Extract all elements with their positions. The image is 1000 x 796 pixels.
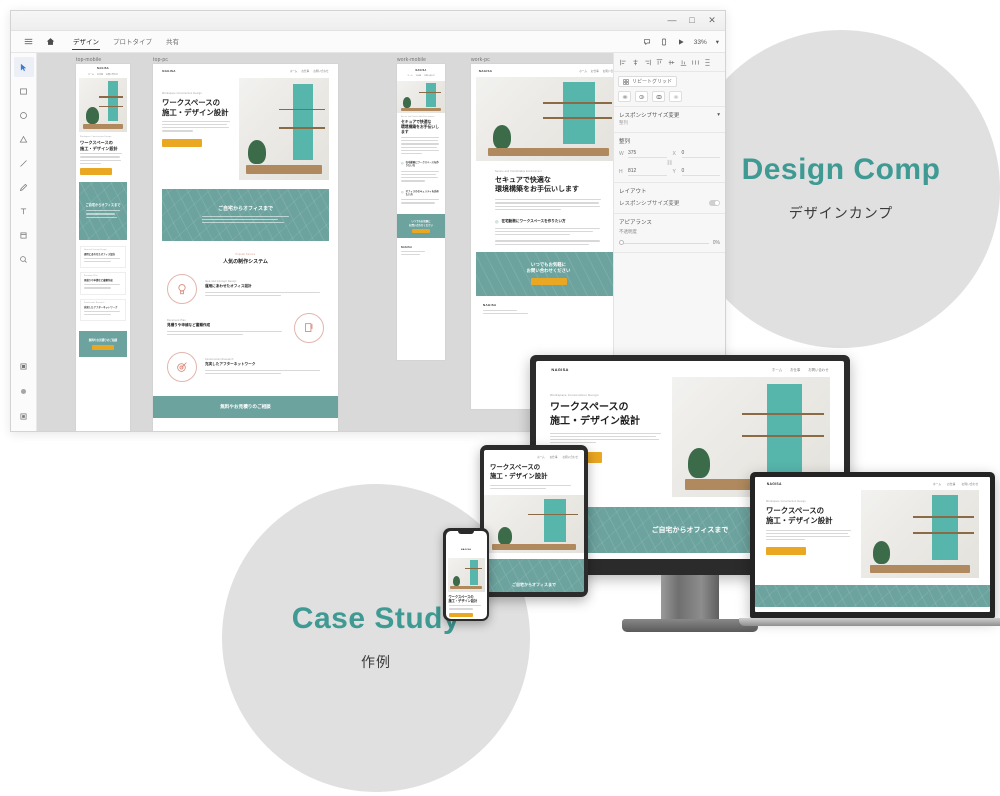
feature-title: 運用にあわせたオフィス設計 bbox=[84, 252, 122, 256]
list-item-text: 在宅勤務にワークスペースを作りたい方 bbox=[502, 219, 566, 224]
nav-link-0[interactable]: ホーム bbox=[88, 73, 94, 76]
responsive-resize-label: レスポンシブサイズ変更 bbox=[619, 199, 679, 207]
opacity-slider-row[interactable]: 0% bbox=[619, 240, 720, 246]
feature-card[interactable]: Idea and Concept Design 運用にあわせたオフィス設計 bbox=[80, 246, 126, 268]
hero-copy: Workspace Construction Design ワークスペースの 施… bbox=[76, 132, 130, 175]
feature-title: 見積りや申請など書類作成 bbox=[167, 323, 286, 328]
check-icon: ◎ bbox=[495, 219, 499, 224]
laptop-lid: NAGISA ホーム お仕事 お問い合わせ Workspace Construc… bbox=[750, 472, 995, 618]
nav-link-2[interactable]: お問い合わせ bbox=[603, 69, 613, 73]
hero-copy: Workspace Construction Design ワークスペースの 施… bbox=[766, 490, 855, 578]
features-header: Popular Service 人気の制作システム bbox=[153, 253, 338, 265]
layout-title: レイアウト bbox=[619, 187, 720, 195]
artboard-tool[interactable] bbox=[14, 225, 34, 245]
logo: NAGISA bbox=[397, 69, 445, 72]
eyebrow: Workspace Construction Design bbox=[550, 393, 664, 397]
feature-copy: Construction Research 充実したアフターネットワーク bbox=[205, 358, 324, 376]
width-field[interactable]: W 375 bbox=[619, 150, 667, 158]
opacity-label: 不透明度 bbox=[619, 229, 720, 235]
align-toolbar bbox=[614, 53, 725, 72]
artboard-top-pc[interactable]: NAGISA ホーム お仕事 お問い合わせ Workspace Construc… bbox=[153, 64, 338, 431]
feature-card[interactable]: Document Plan 見積りや申請など書類作成 bbox=[80, 272, 126, 294]
nav-link-0[interactable]: ホーム bbox=[407, 74, 412, 77]
cta-button[interactable] bbox=[412, 229, 430, 233]
laptop-mockup: NAGISA ホーム お仕事 お問い合わせ Workspace Construc… bbox=[750, 472, 995, 626]
monitor-neck bbox=[661, 575, 719, 619]
hero-copy: Secure and Comfortable Environment セキュアで… bbox=[397, 113, 445, 210]
device-mockups: NAGISA ホーム お仕事 お問い合わせ Workspace Construc… bbox=[430, 350, 1000, 650]
lightbulb-icon bbox=[167, 274, 197, 304]
plugins-panel-button[interactable] bbox=[14, 406, 34, 426]
nav-link-0[interactable]: ホーム bbox=[537, 455, 545, 459]
band-title: ご自宅からオフィスまで bbox=[86, 202, 121, 207]
responsive-section: レスポンシブサイズ変更 ▾ 整列 bbox=[614, 107, 725, 133]
tablet-screen: ホーム お仕事 お問い合わせ ワークスペースの 施工・デザイン設計 bbox=[484, 450, 584, 592]
exclude-icon[interactable] bbox=[669, 91, 682, 102]
ellipse-tool[interactable] bbox=[14, 105, 34, 125]
artboard-label-work-mobile[interactable]: work-mobile bbox=[397, 57, 426, 63]
heading-line-2: 施工・デザイン設計 bbox=[449, 599, 484, 603]
nav-links: ホーム お仕事 お問い合わせ bbox=[484, 450, 584, 459]
nav-link-1[interactable]: お仕事 bbox=[790, 367, 800, 372]
feature-title: 運用にあわせたオフィス設計 bbox=[205, 284, 324, 289]
features-title: 人気の制作システム bbox=[153, 258, 338, 265]
feature-row: Document Plan 見積りや申請など書類作成 bbox=[153, 304, 338, 343]
distribute-vertical-icon[interactable] bbox=[702, 57, 712, 67]
body-text bbox=[80, 153, 126, 164]
body-text bbox=[401, 137, 441, 154]
artboard-top-mobile[interactable]: NAGISA ホーム お仕事 お問い合わせ Workspace Construc… bbox=[76, 64, 130, 431]
nav-links: ホーム お仕事 お問い合わせ bbox=[772, 367, 829, 372]
hero-image bbox=[239, 78, 329, 180]
layers-panel-button[interactable] bbox=[14, 356, 34, 376]
feature-eyebrow: Construction Research bbox=[84, 303, 122, 304]
feature-title: 充実したアフターネットワーク bbox=[84, 305, 122, 309]
nav-link-1[interactable]: お仕事 bbox=[301, 69, 309, 73]
feature-eyebrow: Document Plan bbox=[167, 319, 286, 322]
y-field[interactable]: Y 0 bbox=[673, 168, 721, 176]
list-item: ◎ 在宅勤務にワークスペースを作りたい方 bbox=[401, 161, 441, 168]
feature-card[interactable]: Construction Research 充実したアフターネットワーク bbox=[80, 299, 126, 321]
heading-line-2: 施工・デザイン設計 bbox=[80, 146, 126, 152]
phone-bezel: NAGISA ワークスペースの 施工・デザイン設計 ご自宅からオフィスまで bbox=[443, 528, 489, 621]
height-field[interactable]: H 812 bbox=[619, 168, 667, 176]
design-comp-callout: Design Comp デザインカンプ bbox=[682, 30, 1000, 348]
site-footer: NAGISA bbox=[471, 296, 613, 323]
width-label: W bbox=[619, 151, 625, 157]
opacity-slider-track[interactable] bbox=[619, 243, 709, 244]
rectangle-tool[interactable] bbox=[14, 81, 34, 101]
size-title: 整列 bbox=[619, 137, 630, 145]
y-label: Y bbox=[673, 169, 679, 175]
hamburger-icon[interactable] bbox=[17, 32, 39, 52]
eyebrow: Workspace Construction Design bbox=[80, 136, 126, 138]
feature-eyebrow: Construction Research bbox=[205, 358, 324, 361]
logo: NAGISA bbox=[767, 482, 782, 486]
check-icon: ◎ bbox=[401, 190, 404, 194]
mobile-nav: NAGISA ホーム お仕事 お問い合わせ bbox=[397, 64, 445, 77]
responsive-header[interactable]: レスポンシブサイズ変更 ▾ bbox=[619, 111, 720, 119]
link-icon[interactable]: ⛓ bbox=[619, 160, 720, 166]
logo: NAGISA bbox=[446, 531, 487, 555]
mobile-nav-links: ホーム お仕事 お問い合わせ bbox=[397, 74, 445, 77]
artboard-label-top-pc[interactable]: top-pc bbox=[153, 57, 168, 63]
chevron-down-icon[interactable]: ▾ bbox=[716, 38, 719, 46]
feature-copy: Document Plan 見積りや申請など書類作成 bbox=[167, 319, 286, 337]
heading-line-2: 施工・デザイン設計 bbox=[550, 415, 664, 429]
tool-rail bbox=[11, 53, 37, 431]
heading-line-2: 環境構築をお手伝いします bbox=[401, 125, 441, 135]
play-preview-icon[interactable] bbox=[677, 38, 685, 46]
phone-notch bbox=[458, 531, 474, 535]
feature-eyebrow: Document Plan bbox=[84, 276, 122, 277]
eyebrow: Workspace Construction Design bbox=[162, 92, 233, 95]
list-item-text: オフィスのセキュリティを高めたい方 bbox=[406, 190, 441, 197]
artboard-work-mobile[interactable]: NAGISA ホーム お仕事 お問い合わせ Secure and Comfort… bbox=[397, 64, 445, 360]
nav-link-1[interactable]: お仕事 bbox=[591, 69, 599, 73]
nav-links: ホーム お仕事 お問い合わせ bbox=[933, 482, 979, 486]
nav: NAGISA ホーム お仕事 お問い合わせ bbox=[755, 477, 990, 490]
design-comp-title: Design Comp bbox=[742, 155, 941, 185]
nav-link-2[interactable]: お問い合わせ bbox=[808, 367, 828, 372]
work-cta[interactable]: いつでもお気軽に お問い合わせください bbox=[397, 214, 445, 238]
home-icon[interactable] bbox=[39, 32, 61, 52]
nav-link-0[interactable]: ホーム bbox=[579, 69, 587, 73]
eyebrow: Workspace Construction Design bbox=[766, 500, 855, 503]
feature-title: 見積りや申請など書類作成 bbox=[84, 278, 122, 282]
intersect-icon[interactable] bbox=[652, 91, 665, 102]
phone-screen: NAGISA ワークスペースの 施工・デザイン設計 ご自宅からオフィスまで bbox=[446, 531, 487, 619]
layout-section: レイアウト レスポンシブサイズ変更 bbox=[614, 183, 725, 214]
distribute-horizontal-icon[interactable] bbox=[690, 57, 700, 67]
body-text bbox=[550, 433, 664, 444]
menubar-right-tools: 33% ▾ bbox=[643, 31, 719, 53]
pc-nav: NAGISA ホーム お仕事 お問い合わせ bbox=[471, 64, 613, 77]
footer-cta[interactable]: 無料やお見積りのご相談 bbox=[79, 331, 127, 357]
app-menubar: デザイン プロトタイプ 共有 33% ▾ bbox=[11, 31, 725, 53]
x-value[interactable]: 0 bbox=[682, 150, 721, 158]
appearance-section: アピアランス 不透明度 0% bbox=[614, 214, 725, 253]
teal-band: ご自宅からオフィスまで bbox=[79, 182, 127, 240]
logo: NAGISA bbox=[479, 69, 492, 73]
artboard-label-work-pc[interactable]: work-pc bbox=[471, 57, 490, 63]
align-left-icon[interactable] bbox=[618, 57, 628, 67]
nav-link-0[interactable]: ホーム bbox=[772, 367, 782, 372]
cta-button[interactable] bbox=[449, 613, 473, 617]
nav: NAGISA ホーム お仕事 お問い合わせ bbox=[536, 361, 844, 377]
close-button[interactable]: ✕ bbox=[703, 13, 721, 29]
body-text bbox=[766, 530, 855, 541]
nav-link-1[interactable]: お仕事 bbox=[97, 73, 103, 76]
cta-line-2: お問い合わせください bbox=[409, 223, 433, 227]
artboard-label-top-mobile[interactable]: top-mobile bbox=[76, 57, 101, 63]
x-field[interactable]: X 0 bbox=[673, 150, 721, 158]
repeat-grid-section: リピートグリッド bbox=[614, 72, 725, 107]
hero-copy: ワークスペースの 施工・デザイン設計 bbox=[484, 459, 584, 489]
list-item: ◎ オフィスのセキュリティを高めたい方 bbox=[401, 190, 441, 197]
pc-nav: NAGISA ホーム お仕事 お問い合わせ bbox=[153, 64, 338, 78]
band-title: ご自宅からオフィスまで bbox=[652, 525, 729, 535]
align-middle-icon[interactable] bbox=[666, 57, 676, 67]
minimize-button[interactable]: — bbox=[663, 13, 681, 29]
opacity-value: 0% bbox=[713, 240, 720, 246]
nav-link-2[interactable]: お問い合わせ bbox=[562, 455, 578, 459]
text-tool[interactable] bbox=[14, 201, 34, 221]
monitor-base bbox=[622, 619, 758, 632]
heading-line-1: セキュアで快適な bbox=[495, 176, 602, 185]
case-study-subtitle: 作例 bbox=[361, 652, 391, 672]
list-item-text: 在宅勤務にワークスペースを作りたい方 bbox=[406, 161, 441, 168]
grid-icon bbox=[623, 79, 629, 85]
size-header: 整列 bbox=[619, 137, 720, 145]
hero-image bbox=[861, 490, 979, 578]
nav-link-1[interactable]: お仕事 bbox=[416, 74, 421, 77]
heading-line-1: ワークスペースの bbox=[550, 401, 664, 415]
nav-link-1[interactable]: お仕事 bbox=[550, 455, 558, 459]
align-bottom-icon[interactable] bbox=[678, 57, 688, 67]
comment-icon[interactable] bbox=[643, 38, 651, 46]
nav-link-1[interactable]: お仕事 bbox=[947, 482, 955, 486]
feature-row: Idea and Concept Design 運用にあわせたオフィス設計 bbox=[153, 265, 338, 304]
align-right-icon[interactable] bbox=[642, 57, 652, 67]
feature-copy: Idea and Concept Design 運用にあわせたオフィス設計 bbox=[205, 280, 324, 298]
footer-cta-button[interactable] bbox=[92, 345, 114, 350]
nav-link-2[interactable]: お問い合わせ bbox=[961, 482, 978, 486]
band-title: ご自宅からオフィスまで bbox=[218, 205, 273, 212]
align-center-horizontal-icon[interactable] bbox=[630, 57, 640, 67]
footer-cta[interactable]: 無料やお見積りのご相談 bbox=[153, 396, 338, 418]
device-preview-icon[interactable] bbox=[660, 38, 668, 46]
footer-cta-text: 無料やお見積りのご相談 bbox=[89, 338, 118, 342]
tablet-bezel: ホーム お仕事 お問い合わせ ワークスペースの 施工・デザイン設計 bbox=[480, 445, 588, 597]
appearance-title: アピアランス bbox=[619, 218, 720, 226]
laptop-screen: NAGISA ホーム お仕事 お問い合わせ Workspace Construc… bbox=[755, 477, 990, 612]
responsive-subtitle: 整列 bbox=[619, 120, 720, 126]
hero-image bbox=[397, 81, 445, 113]
responsive-resize-row[interactable]: レスポンシブサイズ変更 bbox=[619, 199, 720, 207]
subtract-icon[interactable] bbox=[635, 91, 648, 102]
teal-band bbox=[755, 585, 990, 607]
hero-row: Workspace Construction Design ワークスペースの 施… bbox=[153, 78, 338, 180]
logo: NAGISA bbox=[97, 67, 109, 70]
eyebrow: Secure and Comfortable Environment bbox=[495, 170, 602, 173]
logo: NAGISA bbox=[551, 367, 568, 372]
y-value[interactable]: 0 bbox=[682, 168, 721, 176]
responsive-resize-toggle[interactable] bbox=[709, 200, 720, 206]
list-item: ◎ 在宅勤務にワークスペースを作りたい方 bbox=[495, 219, 602, 224]
body-text bbox=[162, 121, 233, 132]
feature-row: Construction Research 充実したアフターネットワーク bbox=[153, 343, 338, 382]
mobile-nav: NAGISA bbox=[76, 64, 130, 73]
band-title: ご自宅からオフィスまで bbox=[512, 582, 556, 588]
tablet-mockup: ホーム お仕事 お問い合わせ ワークスペースの 施工・デザイン設計 bbox=[480, 445, 588, 597]
repeat-grid-button[interactable]: リピートグリッド bbox=[618, 76, 677, 87]
smartphone-mockup: NAGISA ワークスペースの 施工・デザイン設計 ご自宅からオフィスまで bbox=[443, 528, 489, 621]
height-label: H bbox=[619, 169, 625, 175]
heading-line-2: 環境構築をお手伝いします bbox=[495, 185, 602, 194]
target-icon bbox=[167, 352, 197, 382]
window-titlebar: — □ ✕ bbox=[11, 11, 725, 31]
boolean-ops-row bbox=[618, 91, 721, 102]
mobile-nav-links: ホーム お仕事 お問い合わせ bbox=[76, 73, 130, 76]
nav-link-0[interactable]: ホーム bbox=[933, 482, 941, 486]
hero-image bbox=[79, 78, 127, 132]
repeat-grid-label: リピートグリッド bbox=[632, 78, 672, 85]
size-section: 整列 W 375 X 0 ⛓ bbox=[614, 133, 725, 183]
body-text bbox=[495, 199, 602, 210]
nav-link-2[interactable]: お問い合わせ bbox=[106, 73, 118, 76]
cta-button[interactable] bbox=[766, 547, 806, 555]
page-root: Design Comp デザインカンプ Case Study 作例 — □ ✕ … bbox=[0, 0, 1000, 796]
size-fields-2: H 812 Y 0 bbox=[619, 168, 720, 176]
heading-line-2: 施工・デザイン設計 bbox=[162, 108, 233, 118]
chevron-down-icon[interactable]: ▾ bbox=[717, 112, 720, 118]
nav-link-2[interactable]: お問い合わせ bbox=[424, 74, 435, 77]
heading-line-2: 施工・デザイン設計 bbox=[490, 473, 578, 482]
eyebrow: Secure and Comfortable Environment bbox=[401, 117, 441, 118]
check-icon: ◎ bbox=[401, 161, 404, 165]
laptop-base bbox=[739, 618, 1000, 626]
triangle-tool[interactable] bbox=[14, 129, 34, 149]
select-tool[interactable] bbox=[14, 57, 34, 77]
pen-tool[interactable] bbox=[14, 177, 34, 197]
teal-band: ご自宅からオフィスまで bbox=[484, 559, 584, 592]
heading-line-1: ワークスペースの bbox=[162, 98, 233, 108]
x-label: X bbox=[673, 151, 679, 157]
line-tool[interactable] bbox=[14, 153, 34, 173]
nav-link-2[interactable]: お問い合わせ bbox=[313, 69, 329, 73]
zoom-tool[interactable] bbox=[14, 249, 34, 269]
cta-button[interactable] bbox=[162, 139, 202, 147]
hero-copy: Workspace Construction Design ワークスペースの 施… bbox=[162, 78, 233, 180]
hero-image bbox=[448, 558, 485, 592]
tab-design[interactable]: デザイン bbox=[67, 33, 105, 50]
add-icon[interactable] bbox=[618, 91, 631, 102]
feature-title: 充実したアフターネットワーク bbox=[205, 362, 324, 367]
features-eyebrow: Popular Service bbox=[153, 253, 338, 256]
cta-line-2: お問い合わせください bbox=[527, 268, 571, 274]
opacity-slider-knob[interactable] bbox=[619, 240, 624, 245]
width-value[interactable]: 375 bbox=[628, 150, 667, 158]
responsive-title: レスポンシブサイズ変更 bbox=[619, 111, 679, 119]
hero-row: Workspace Construction Design ワークスペースの 施… bbox=[755, 490, 990, 578]
height-value[interactable]: 812 bbox=[628, 168, 667, 176]
footer-logo: NAGISA bbox=[483, 303, 613, 307]
align-top-icon[interactable] bbox=[654, 57, 664, 67]
size-fields: W 375 X 0 bbox=[619, 150, 720, 158]
zoom-level[interactable]: 33% bbox=[694, 39, 707, 46]
nav-links: ホーム お仕事 お問い合わせ bbox=[579, 69, 613, 73]
hero-image bbox=[476, 77, 613, 161]
features-list: Idea and Concept Design 運用にあわせたオフィス設計 Do… bbox=[76, 240, 130, 327]
hero-copy: Secure and Comfortable Environment セキュアで… bbox=[471, 161, 613, 245]
heading-line-2: 施工・デザイン設計 bbox=[766, 516, 855, 526]
tab-share[interactable]: 共有 bbox=[160, 33, 185, 50]
maximize-button[interactable]: □ bbox=[683, 13, 701, 29]
teal-band: ご自宅からオフィスまで bbox=[162, 189, 329, 241]
footer-logo: NAGISA bbox=[401, 246, 441, 249]
heading-line-1: ワークスペースの bbox=[490, 464, 578, 473]
site-footer: NAGISA bbox=[397, 242, 445, 261]
nav-link-0[interactable]: ホーム bbox=[290, 69, 298, 73]
logo: NAGISA bbox=[162, 69, 175, 73]
hero-copy: ワークスペースの 施工・デザイン設計 bbox=[446, 592, 487, 619]
footer-cta-text: 無料やお見積りのご相談 bbox=[220, 404, 271, 410]
design-comp-subtitle: デザインカンプ bbox=[789, 203, 894, 223]
feature-eyebrow: Idea and Concept Design bbox=[205, 280, 324, 283]
cta-button[interactable] bbox=[531, 278, 567, 285]
assets-panel-button[interactable] bbox=[14, 381, 34, 401]
work-cta[interactable]: いつでもお気軽に お問い合わせください bbox=[476, 252, 613, 296]
cta-button[interactable] bbox=[80, 168, 112, 175]
tab-prototype[interactable]: プロトタイプ bbox=[107, 33, 158, 50]
feature-eyebrow: Idea and Concept Design bbox=[84, 250, 122, 251]
document-icon bbox=[294, 313, 324, 343]
hero-image bbox=[484, 495, 584, 553]
mode-tabs: デザイン プロトタイプ 共有 bbox=[67, 33, 185, 50]
logo-text: NAGISA bbox=[461, 549, 471, 551]
body-text bbox=[490, 485, 578, 489]
heading-line-1: ワークスペースの bbox=[766, 506, 855, 516]
nav-links: ホーム お仕事 お問い合わせ bbox=[290, 69, 329, 73]
